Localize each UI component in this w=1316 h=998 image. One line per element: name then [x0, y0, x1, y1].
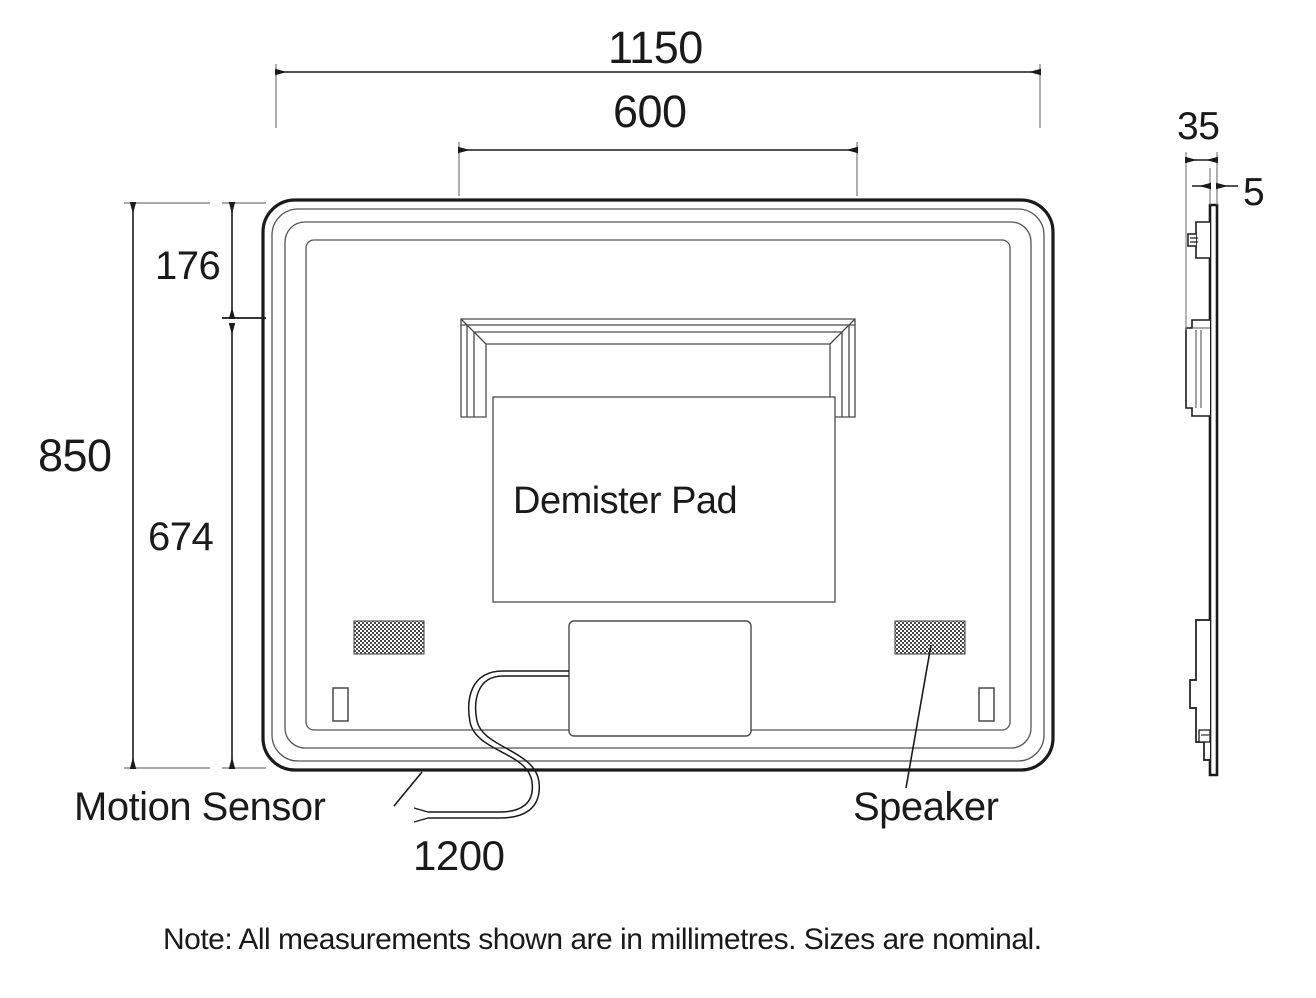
technical-drawing-canvas: 1150 600 35 5 176 850 674 Demister Pad M…	[0, 0, 1316, 998]
junction-box	[569, 621, 751, 736]
side-cable-gland	[1199, 730, 1210, 742]
dimension-5	[1192, 168, 1238, 205]
side-top-clip	[1188, 234, 1196, 246]
dimension-176	[222, 203, 266, 318]
glass-panel	[1210, 205, 1217, 775]
dim-label-glass-thickness: 5	[1243, 171, 1264, 215]
measurement-note: Note: All measurements shown are in mill…	[163, 923, 1042, 957]
motion-sensor-label: Motion Sensor	[74, 785, 325, 830]
dim-label-lower-offset: 674	[148, 515, 213, 560]
side-elevation	[1186, 205, 1217, 775]
dim-label-overall-width: 1150	[608, 22, 703, 74]
dim-label-overall-height: 850	[38, 430, 112, 482]
dim-label-side-depth: 35	[1177, 105, 1219, 149]
side-mid-bracket	[1186, 320, 1210, 416]
dim-label-bracket-width: 600	[613, 86, 687, 138]
dim-label-top-offset: 176	[155, 244, 220, 289]
demister-pad-label: Demister Pad	[513, 480, 737, 523]
dimension-674	[222, 324, 266, 768]
speaker-label: Speaker	[853, 785, 998, 830]
dim-label-cable-length: 1200	[413, 832, 504, 880]
motion-sensor-leader	[394, 772, 422, 806]
side-top-bracket	[1196, 222, 1210, 258]
clip-right	[979, 688, 994, 721]
dimension-600	[459, 142, 857, 196]
clip-left	[333, 688, 348, 721]
speaker-left	[354, 621, 424, 654]
